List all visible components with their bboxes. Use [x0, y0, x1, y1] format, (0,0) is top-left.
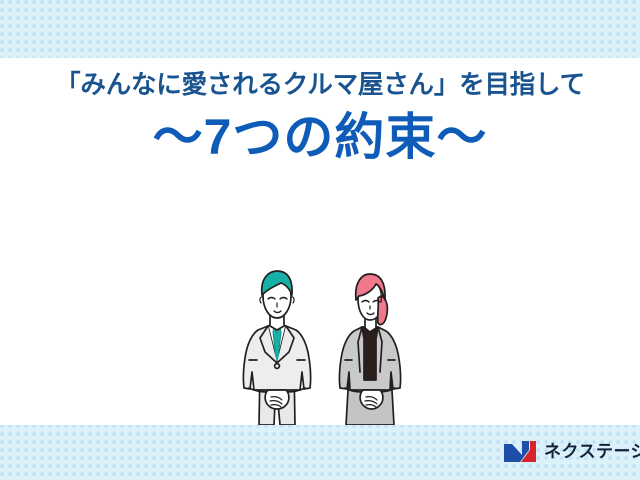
male-staff-figure	[243, 271, 310, 425]
brand-wordmark: ネクステージ	[544, 443, 640, 460]
female-ponytail	[378, 296, 388, 325]
female-staff-figure	[339, 274, 400, 425]
male-button	[275, 364, 280, 369]
staff-illustration	[218, 268, 428, 425]
male-clasped-hands	[265, 390, 289, 409]
nextage-n-logo-icon	[503, 440, 537, 463]
brand-logo: ネクステージ	[503, 440, 640, 463]
female-inner-top	[362, 327, 378, 380]
female-clasped-hands	[360, 390, 383, 409]
promo-banner: 「みんなに愛されるクルマ屋さん」を目指して ～7つの約束～	[0, 0, 640, 480]
staff-illustration-svg	[218, 268, 428, 425]
